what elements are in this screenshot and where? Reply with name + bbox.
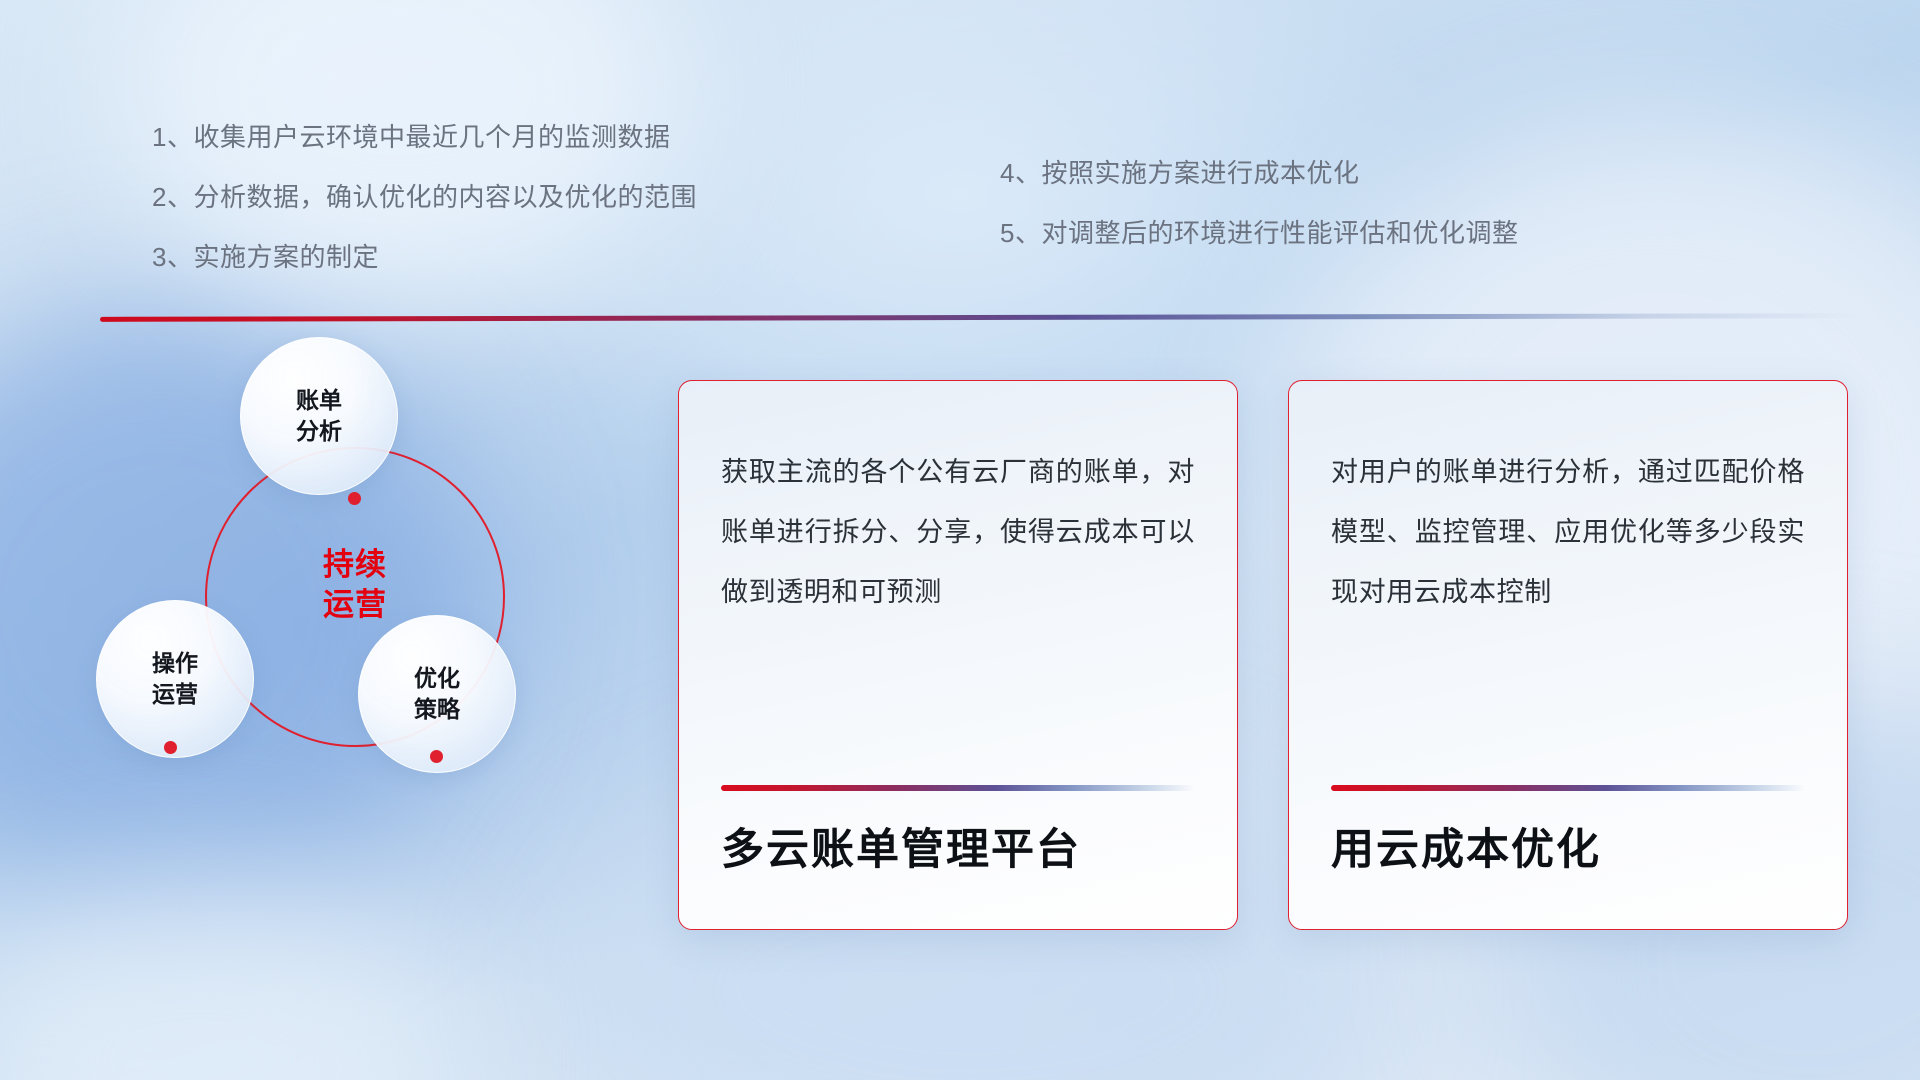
card-divider-rule bbox=[721, 785, 1195, 791]
venn-bubble-label-line2: 分析 bbox=[296, 416, 342, 447]
bullet-item-3: 3、实施方案的制定 bbox=[152, 244, 697, 270]
venn-node-dot-bottom-right bbox=[430, 750, 443, 763]
venn-center-label-line1: 持续 bbox=[205, 545, 505, 585]
venn-bubble-label-line1: 账单 bbox=[296, 385, 342, 416]
card-title: 多云账单管理平台 bbox=[721, 825, 1195, 877]
feature-card-multicloud-billing[interactable]: 获取主流的各个公有云厂商的账单，对账单进行拆分、分享，使得云成本可以做到透明和可… bbox=[678, 380, 1238, 930]
venn-bubble-label-line1: 优化 bbox=[414, 663, 460, 694]
bullet-list-left: 1、收集用户云环境中最近几个月的监测数据 2、分析数据，确认优化的内容以及优化的… bbox=[152, 124, 697, 304]
bullet-list-right: 4、按照实施方案进行成本优化 5、对调整后的环境进行性能评估和优化调整 bbox=[1000, 160, 1518, 280]
card-body-text: 对用户的账单进行分析，通过匹配价格模型、监控管理、应用优化等多少段实现对用云成本… bbox=[1331, 443, 1805, 623]
slide-canvas: 1、收集用户云环境中最近几个月的监测数据 2、分析数据，确认优化的内容以及优化的… bbox=[0, 0, 1920, 1080]
bullet-item-2: 2、分析数据，确认优化的内容以及优化的范围 bbox=[152, 184, 697, 210]
venn-bubble-operations[interactable]: 操作 运营 bbox=[96, 600, 254, 758]
venn-center-label: 持续 运营 bbox=[205, 545, 505, 624]
venn-bubble-label-line2: 运营 bbox=[152, 679, 198, 710]
venn-node-dot-bottom-left bbox=[164, 741, 177, 754]
card-title: 用云成本优化 bbox=[1331, 825, 1805, 877]
venn-node-dot-top bbox=[348, 492, 361, 505]
bullet-item-5: 5、对调整后的环境进行性能评估和优化调整 bbox=[1000, 220, 1518, 246]
feature-card-cloud-cost-optimization[interactable]: 对用户的账单进行分析，通过匹配价格模型、监控管理、应用优化等多少段实现对用云成本… bbox=[1288, 380, 1848, 930]
bullet-item-1: 1、收集用户云环境中最近几个月的监测数据 bbox=[152, 124, 697, 150]
card-divider-rule bbox=[1331, 785, 1805, 791]
bullet-item-4: 4、按照实施方案进行成本优化 bbox=[1000, 160, 1518, 186]
header-divider-rule bbox=[100, 313, 1860, 322]
venn-bubble-billing-analysis[interactable]: 账单 分析 bbox=[240, 337, 398, 495]
card-body-text: 获取主流的各个公有云厂商的账单，对账单进行拆分、分享，使得云成本可以做到透明和可… bbox=[721, 443, 1195, 623]
venn-bubble-label-line1: 操作 bbox=[152, 648, 198, 679]
venn-diagram: 持续 运营 账单 分析 操作 运营 优化 策略 bbox=[90, 355, 610, 915]
venn-bubble-label-line2: 策略 bbox=[414, 694, 460, 725]
